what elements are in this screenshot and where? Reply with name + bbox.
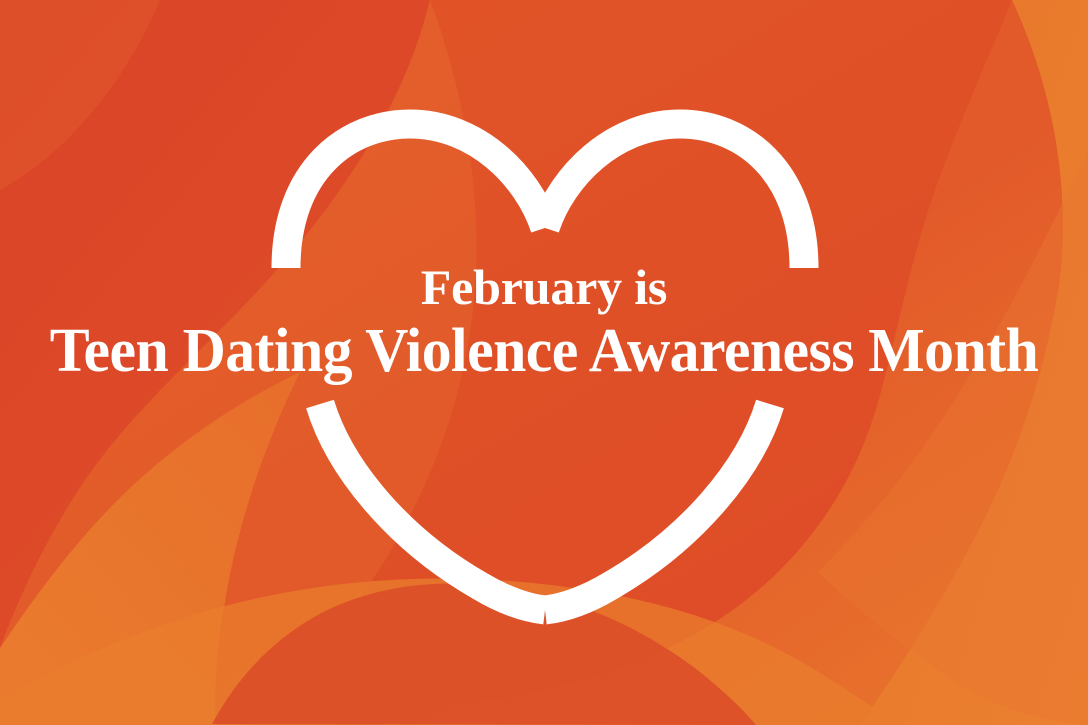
headline-line-2: Teen Dating Violence Awareness Month <box>19 320 1069 382</box>
awareness-banner: February is Teen Dating Violence Awarene… <box>0 0 1088 725</box>
headline-line-1: February is <box>0 262 1088 312</box>
headline-block: February is Teen Dating Violence Awarene… <box>0 262 1088 382</box>
